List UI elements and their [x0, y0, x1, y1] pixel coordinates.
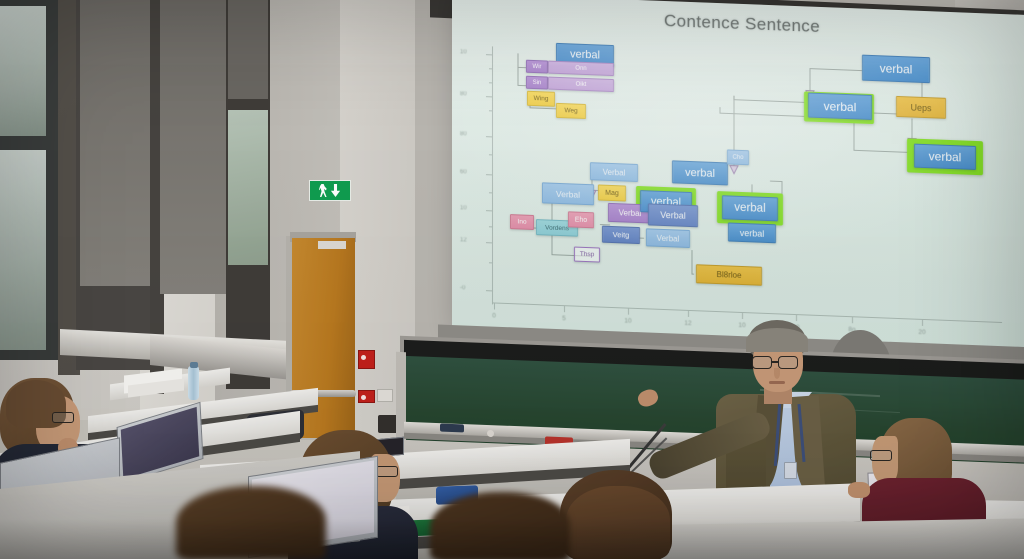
eraser[interactable]	[440, 424, 464, 433]
diagram-node[interactable]: Wir	[526, 60, 548, 74]
diagram-node[interactable]: Onn	[548, 61, 614, 77]
lecturer-mouth	[769, 381, 785, 384]
window-glass-lower	[228, 110, 268, 265]
water-bottle	[188, 366, 199, 400]
diagram-node[interactable]: Veitg	[602, 226, 640, 244]
diagram-node[interactable]: Verbal	[646, 228, 690, 248]
diagram-node[interactable]: Cho	[727, 149, 749, 165]
alarm-indicator-icon	[361, 395, 366, 400]
diagram-node[interactable]: verbal	[862, 55, 930, 84]
diagram-node[interactable]: Eho	[568, 211, 594, 228]
projection-screen: Contence Sentence 10 80	[452, 0, 1024, 355]
fire-alarm-call-point[interactable]	[358, 390, 375, 403]
student-hair	[176, 486, 326, 559]
projected-slide: Contence Sentence 10 80	[452, 0, 1024, 355]
diagram-node[interactable]: Wing	[527, 91, 555, 107]
diagram-node[interactable]: verbal	[672, 160, 728, 185]
alarm-indicator-icon	[361, 355, 366, 360]
diagram-node[interactable]: verbal	[914, 144, 976, 170]
lecturer-nose	[774, 368, 780, 379]
running-man-icon	[319, 184, 327, 197]
diagram-node[interactable]: verbal	[722, 195, 778, 221]
glasses	[52, 412, 74, 423]
glasses	[870, 450, 892, 461]
diagram-node[interactable]: Ueps	[896, 96, 946, 119]
diagram-node[interactable]: Mag	[598, 184, 626, 201]
diagram-node[interactable]: Bl8rloe	[696, 264, 762, 286]
lecture-hall-photo: Contence Sentence 10 80	[0, 0, 1024, 559]
glasses-bridge	[772, 361, 779, 363]
student-hand	[848, 482, 870, 498]
door-plate	[318, 241, 346, 249]
diagram-node[interactable]: Verbal	[648, 203, 698, 227]
diagram-node[interactable]: verbal	[728, 222, 776, 243]
room-background: Contence Sentence 10 80	[0, 0, 1024, 559]
diagram-node[interactable]: verbal	[808, 93, 872, 120]
diagram-node[interactable]: Ino	[510, 214, 534, 230]
diagram-node[interactable]: Sin	[526, 76, 548, 90]
glasses-lens	[778, 356, 798, 369]
glasses	[376, 466, 398, 477]
window-blind[interactable]	[80, 0, 150, 286]
wall-plate	[377, 389, 393, 402]
bottle-cap	[190, 362, 198, 368]
lecturer-hair	[746, 328, 808, 352]
student-front-blur	[430, 492, 570, 559]
emergency-exit-sign	[309, 180, 351, 201]
diagram-node[interactable]: Weg	[556, 103, 586, 119]
diagram-node[interactable]: Verbal	[542, 182, 594, 205]
window-blind[interactable]	[160, 0, 230, 294]
diagram-node[interactable]: Oikt	[548, 77, 614, 93]
diagram-node[interactable]: Verbal	[590, 162, 638, 182]
window-frame	[0, 0, 58, 360]
tray-knob	[487, 430, 494, 437]
student-hair	[566, 486, 670, 559]
diagram-edges	[452, 0, 1024, 355]
window-glass	[0, 150, 46, 350]
id-badge	[784, 462, 797, 479]
diagram-node[interactable]: Thsp	[574, 247, 600, 263]
glasses-lens	[752, 356, 772, 369]
fire-alarm-call-point[interactable]	[358, 350, 375, 369]
down-arrow-icon	[330, 184, 341, 197]
window-glass	[0, 6, 46, 136]
window-glass-upper	[228, 0, 268, 99]
